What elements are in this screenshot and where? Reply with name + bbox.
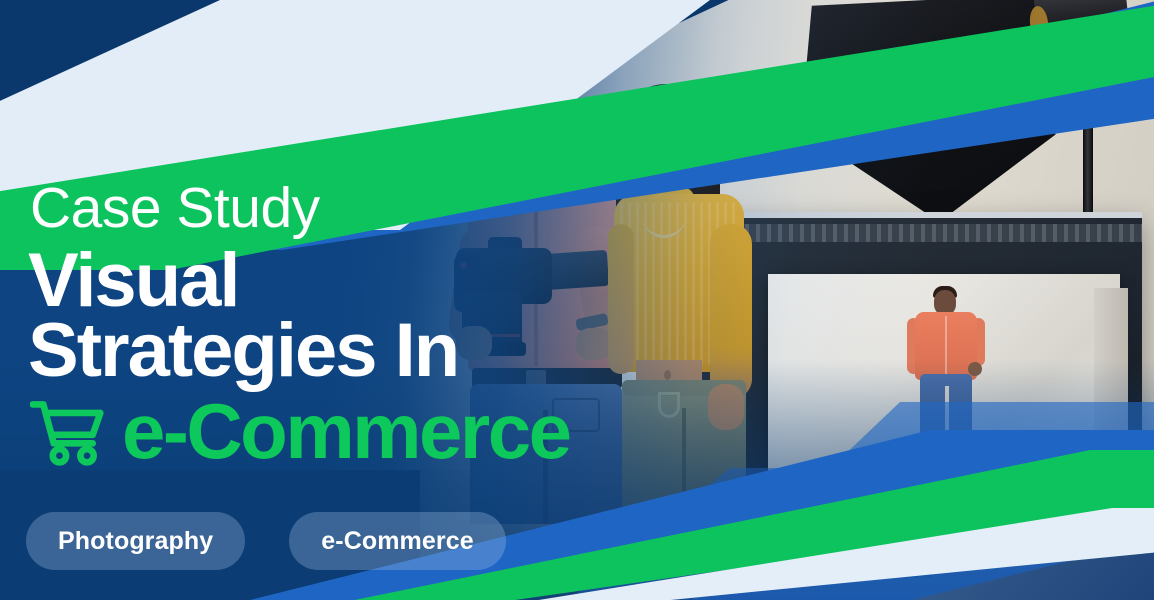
tag-list: Photography e-Commerce [26,512,506,570]
ecommerce-title: e-Commerce [122,392,570,470]
page-title: Visual Strategies In [28,246,458,386]
case-study-banner: Case Study Visual Strategies In e-Commer… [0,0,1154,600]
tag-ecommerce[interactable]: e-Commerce [289,512,505,570]
shopping-cart-icon [30,396,106,466]
ecommerce-row: e-Commerce [30,392,570,470]
tag-photography[interactable]: Photography [26,512,245,570]
kicker-text: Case Study [30,180,320,237]
banner-content: Case Study Visual Strategies In e-Commer… [0,0,1154,600]
